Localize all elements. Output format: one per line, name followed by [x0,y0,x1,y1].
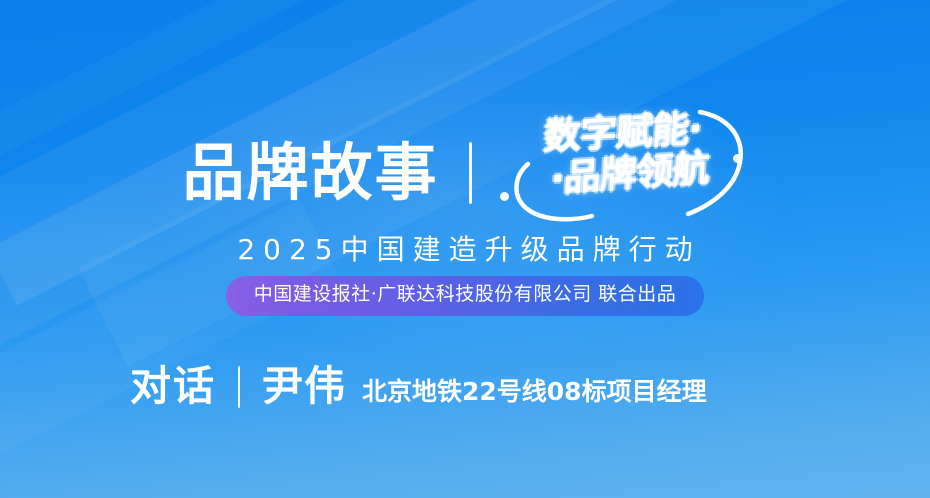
guest-name: 尹伟 [262,366,346,407]
brand-story-banner: 品牌故事 数字赋能· ·品牌领航 2025中国建造升级品牌行动 中国建设报社·广… [0,0,930,498]
slogan-block: 数字赋能· ·品牌领航 [498,110,748,228]
slogan-dot-left-icon [500,192,509,201]
slogan-dot-right-icon [733,154,742,163]
campaign-subtitle: 2025中国建造升级品牌行动 [0,228,930,268]
slogan-lines: 数字赋能· ·品牌领航 [498,114,748,194]
guest-role: 北京地铁22号线08标项目经理 [362,379,707,404]
dialogue-label: 对话 [130,366,216,407]
dialogue-row: 对话 尹伟 北京地铁22号线08标项目经理 [130,366,707,408]
page-title: 品牌故事 [182,142,438,204]
slogan-line-2: ·品牌领航 [549,149,709,199]
dialogue-divider [238,366,240,408]
headline-row: 品牌故事 数字赋能· ·品牌领航 [0,118,930,228]
copresenter-badge: 中国建设报社·广联达科技股份有限公司 联合出品 [226,276,705,316]
title-divider [469,142,472,204]
badge-row: 中国建设报社·广联达科技股份有限公司 联合出品 [0,276,930,316]
